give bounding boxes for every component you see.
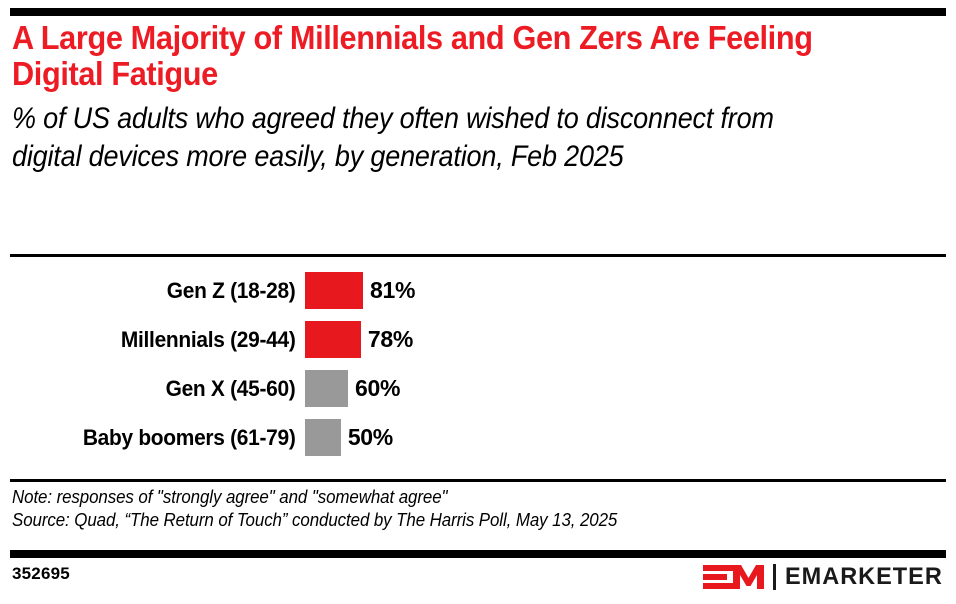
bar-track: 81% <box>305 272 946 309</box>
footnotes: Note: responses of "strongly agree" and … <box>12 486 886 532</box>
bar-value-label: 78% <box>361 326 413 353</box>
emarketer-logo[interactable]: EMARKETER <box>703 562 946 592</box>
title-block: A Large Majority of Millennials and Gen … <box>12 20 942 176</box>
em-logo-icon <box>703 563 765 591</box>
chart-page: A Large Majority of Millennials and Gen … <box>0 0 956 604</box>
brand-name: EMARKETER <box>785 565 943 589</box>
bar-track: 60% <box>305 370 946 407</box>
top-divider-rule <box>10 8 946 16</box>
chart-subtitle: % of US adults who agreed they often wis… <box>12 100 849 176</box>
bar-track: 78% <box>305 321 946 358</box>
bar-row: Baby boomers (61-79)50% <box>10 413 946 462</box>
chart-title: A Large Majority of Millennials and Gen … <box>12 20 877 92</box>
bar-chart-plot: Gen Z (18-28)81%Millennials (29-44)78%Ge… <box>10 266 946 472</box>
bottom-divider-rule <box>10 550 946 558</box>
chart-id: 352695 <box>12 564 70 584</box>
bar-value-label: 60% <box>348 375 400 402</box>
logo-divider <box>773 564 776 590</box>
bar-fill[interactable] <box>305 370 348 407</box>
bar-row: Gen X (45-60)60% <box>10 364 946 413</box>
bar-fill[interactable] <box>305 272 363 309</box>
bar-category-label: Gen Z (18-28) <box>25 278 305 304</box>
note-text: Note: responses of "strongly agree" and … <box>12 486 886 509</box>
bar-track: 50% <box>305 419 946 456</box>
bar-category-label: Millennials (29-44) <box>25 327 305 353</box>
bar-category-label: Baby boomers (61-79) <box>25 425 305 451</box>
plot-top-rule <box>10 254 946 257</box>
bar-value-label: 81% <box>363 277 415 304</box>
bar-fill[interactable] <box>305 321 361 358</box>
bar-row: Gen Z (18-28)81% <box>10 266 946 315</box>
plot-bottom-rule <box>10 479 946 482</box>
footer: 352695 EMARKETER <box>10 562 946 594</box>
bar-category-label: Gen X (45-60) <box>25 376 305 402</box>
bar-value-label: 50% <box>341 424 393 451</box>
bar-row: Millennials (29-44)78% <box>10 315 946 364</box>
bar-fill[interactable] <box>305 419 341 456</box>
source-text: Source: Quad, “The Return of Touch” cond… <box>12 509 886 532</box>
